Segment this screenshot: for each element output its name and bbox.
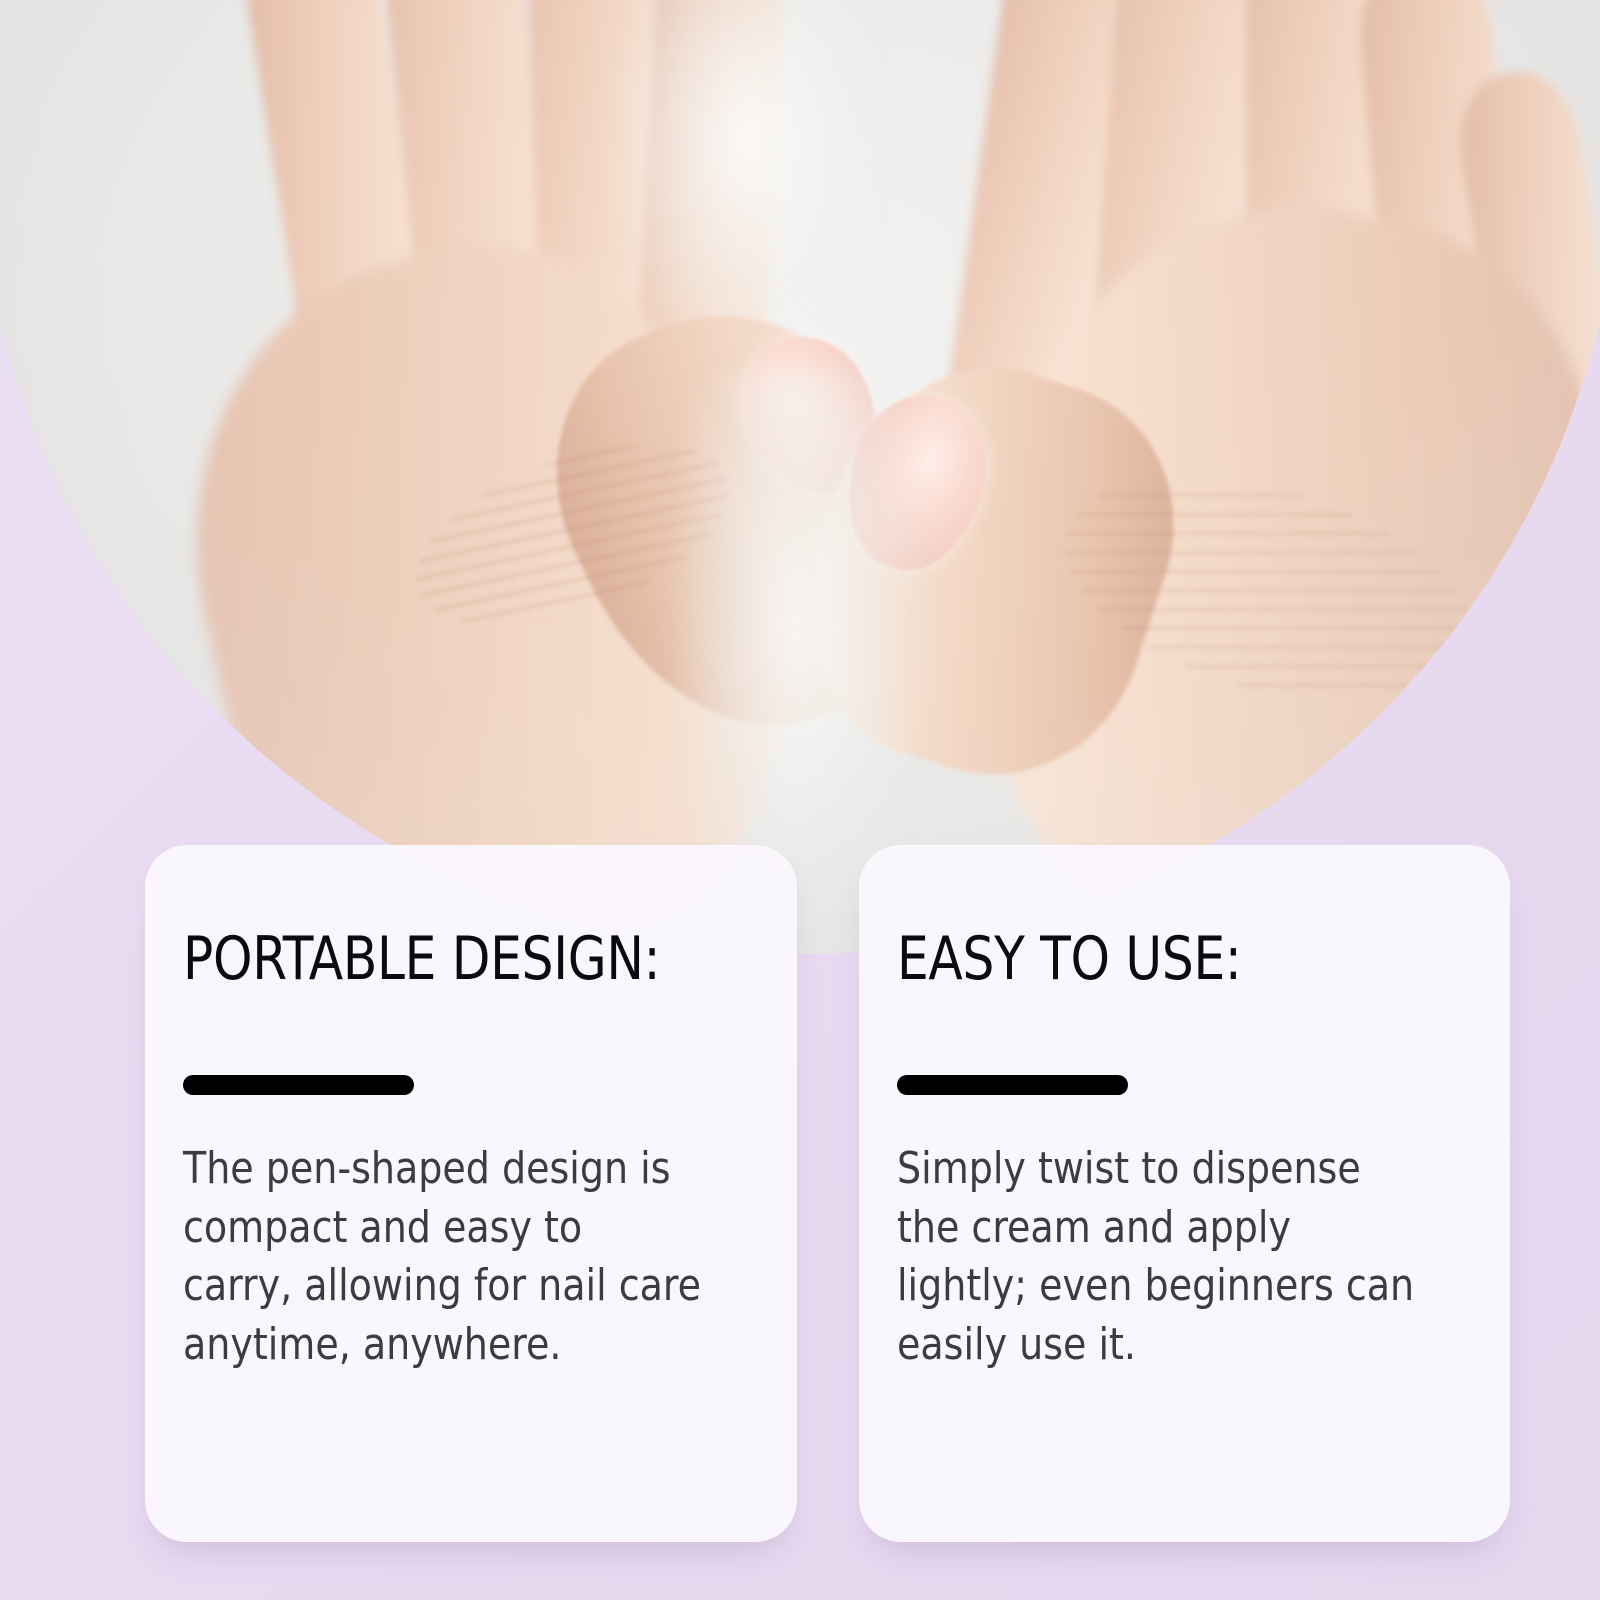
poster-root: PORTABLE DESIGN: The pen-shaped design i… [0,0,1600,1600]
card-title: PORTABLE DESIGN: [183,929,701,989]
card-body-text: Simply twist to dispense the cream and a… [897,1140,1415,1374]
card-divider-rule [183,1075,414,1095]
card-title: EASY TO USE: [897,929,1415,989]
photo-vignette [0,0,1600,954]
feature-card-easy-to-use[interactable]: EASY TO USE: Simply twist to dispense th… [859,845,1511,1542]
card-divider-rule [897,1075,1128,1095]
feature-card-portable-design[interactable]: PORTABLE DESIGN: The pen-shaped design i… [145,845,797,1542]
hand-photo [0,0,1600,954]
hero-circle-image [0,0,1600,954]
feature-card-group: PORTABLE DESIGN: The pen-shaped design i… [145,845,1510,1542]
card-body-text: The pen-shaped design is compact and eas… [183,1140,701,1374]
